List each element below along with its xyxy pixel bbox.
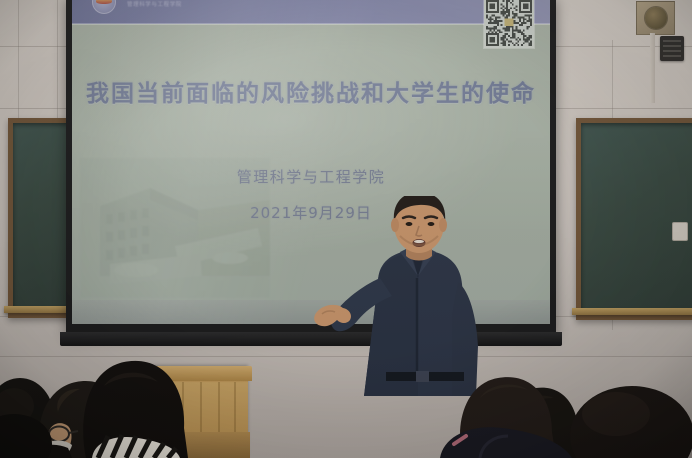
light-switch-panel[interactable]: [660, 36, 684, 61]
chalk-ledge-right: [572, 308, 692, 315]
qr-code[interactable]: [484, 0, 534, 48]
audience-member-6: [552, 380, 692, 458]
audience-member-3: [52, 336, 202, 458]
slide-header-rule: [72, 23, 550, 25]
wall-conduit: [650, 33, 655, 103]
lecture-hall-photo: 管理科学与工程学院 我国当前面临的风险挑战和大学生的使命 管理科学与工程学院 2…: [0, 0, 692, 458]
slide-title: 我国当前面临的风险挑战和大学生的使命: [72, 74, 550, 108]
wall-outlet[interactable]: [672, 222, 688, 241]
wall-seam: [57, 0, 58, 120]
blackboard-right: [576, 118, 692, 320]
slide-header-org-text: 管理科学与工程学院: [127, 0, 182, 8]
audience-member-1: [0, 408, 54, 458]
wall-clock-plaque-icon: [636, 1, 675, 35]
wall-seam: [18, 0, 19, 120]
slide-subtitle: 管理科学与工程学院: [72, 166, 550, 187]
